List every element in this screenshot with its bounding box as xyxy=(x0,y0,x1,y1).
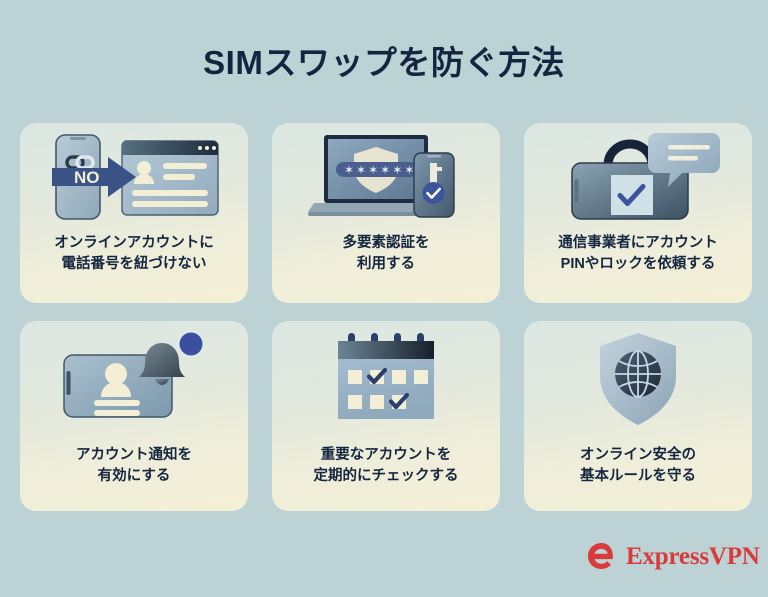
tip-caption: 重要なアカウントを 定期的にチェックする xyxy=(306,445,467,487)
tip-caption: オンラインアカウントに 電話番号を紐づけない xyxy=(46,233,222,275)
tip-card-regular-account-check: 重要なアカウントを 定期的にチェックする xyxy=(272,321,500,511)
tip-card-account-notifications: アカウント通知を 有効にする xyxy=(20,321,248,511)
tip-card-online-safety-basics: オンライン安全の 基本ルールを守る xyxy=(524,321,752,511)
tip-caption: アカウント通知を 有効にする xyxy=(68,445,200,487)
tip-card-multi-factor-auth: ✶✶✶✶✶✶✶ 多要素認証を 利用する xyxy=(272,123,500,303)
tip-card-link-phone-number: NO オンラインアカウントに 電話番号を紐づけない xyxy=(20,123,248,303)
tip-caption: 多要素認証を 利用する xyxy=(335,233,438,275)
laptop-shield-password-phone-key-icon: ✶✶✶✶✶✶✶ xyxy=(272,123,500,231)
expressvpn-wordmark: ExpressVPN xyxy=(626,544,760,569)
tip-card-carrier-account-pin: 通信事業者にアカウント PINやロックを依頼する xyxy=(524,123,752,303)
tip-caption: オンライン安全の 基本ルールを守る xyxy=(572,445,704,487)
profile-card-bell-icon xyxy=(20,321,248,437)
phone-no-link-to-account-icon: NO xyxy=(20,123,248,231)
calendar-checkmarks-icon xyxy=(272,321,500,437)
expressvpn-e-mark-icon xyxy=(585,540,617,572)
shield-globe-icon xyxy=(524,321,752,437)
tips-grid: NO オンラインアカウントに 電話番号を紐づけない xyxy=(20,123,748,511)
page-title: SIMスワップを防ぐ方法 xyxy=(0,36,768,84)
phone-padlock-chat-icon xyxy=(524,123,752,231)
infographic-poster: SIMスワップを防ぐ方法 xyxy=(0,0,768,597)
expressvpn-logo: ExpressVPN xyxy=(585,536,745,576)
no-badge-label: NO xyxy=(74,168,100,187)
tip-caption: 通信事業者にアカウント PINやロックを依頼する xyxy=(550,233,726,275)
